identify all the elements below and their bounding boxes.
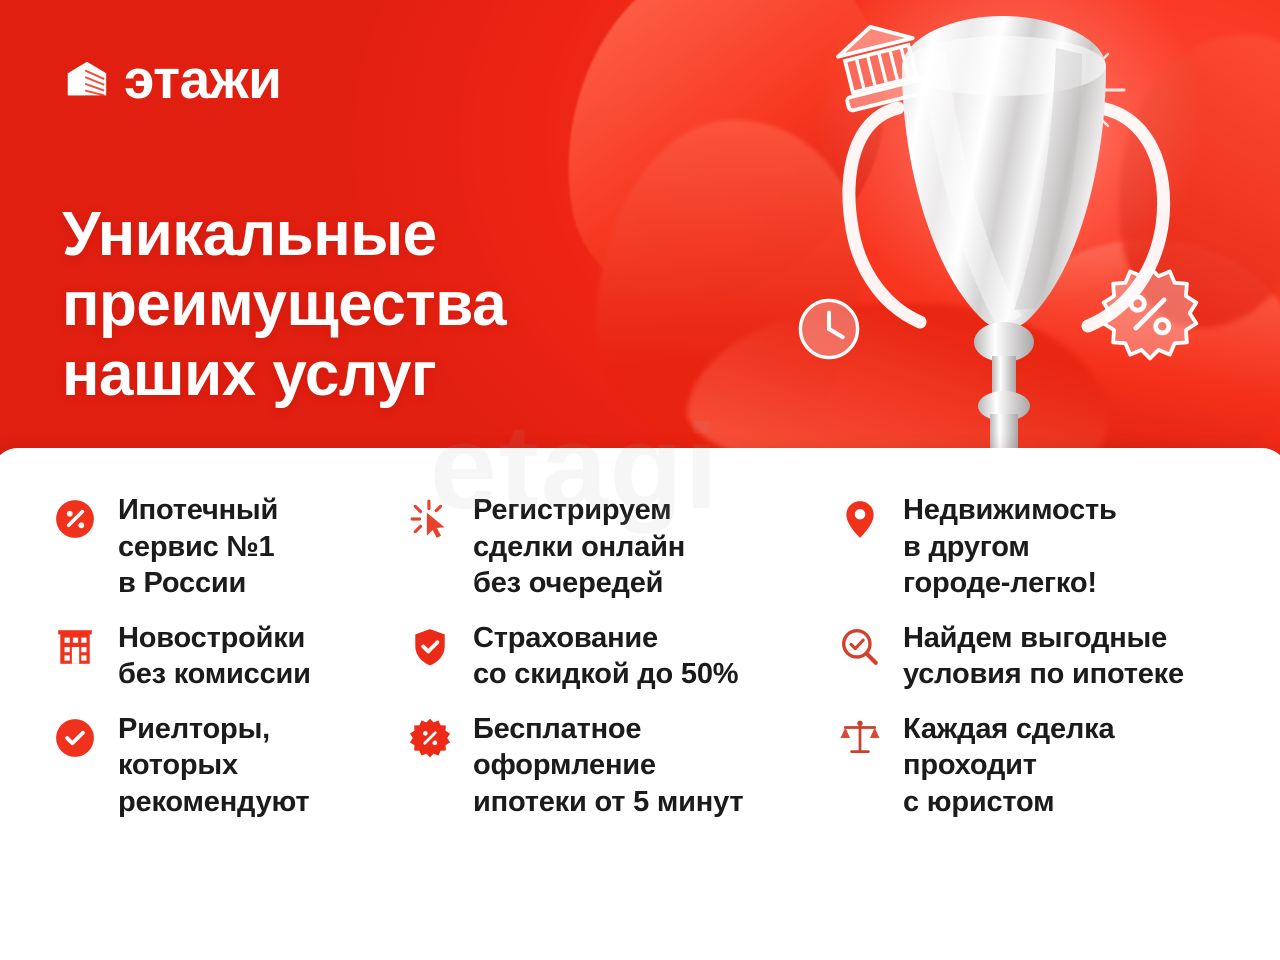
feature-item-new-buildings: Новостройки без комиссии	[54, 620, 409, 693]
hero-headline: Уникальные преимущества наших услуг	[62, 200, 506, 410]
headline-line-3: наших услуг	[62, 340, 506, 410]
feature-item-free-processing: Бесплатное оформление ипотеки от 5 минут	[409, 711, 839, 821]
brand-logo[interactable]: этажи	[64, 52, 281, 107]
clock-icon	[795, 295, 863, 363]
shield-check-icon	[409, 626, 451, 668]
feature-label: Регистрируем сделки онлайн без очередей	[473, 492, 685, 602]
headline-line-1: Уникальные	[62, 200, 506, 270]
percent-circle-icon	[54, 498, 96, 540]
bank-icon	[832, 18, 928, 114]
features-grid: Ипотечный сервис №1 в России	[0, 448, 1280, 820]
feature-item-best-conditions: Найдем выгодные условия по ипотеке	[839, 620, 1279, 693]
feature-label: Новостройки без комиссии	[118, 620, 311, 693]
headline-line-2: преимущества	[62, 270, 506, 340]
brand-name: этажи	[124, 52, 281, 107]
feature-item-other-city: Недвижимость в другом городе-легко!	[839, 492, 1279, 602]
feature-label: Недвижимость в другом городе-легко!	[903, 492, 1117, 602]
feature-label: Бесплатное оформление ипотеки от 5 минут	[473, 711, 743, 821]
check-circle-icon	[54, 717, 96, 759]
promo-banner: этажи Уникальные преимущества наших услу…	[0, 0, 1280, 960]
features-card: Ипотечный сервис №1 в России	[0, 448, 1280, 960]
feature-label: Страхование со скидкой до 50%	[473, 620, 738, 693]
feature-item-lawyer-deal: Каждая сделка проходит с юристом	[839, 711, 1279, 821]
percent-badge-icon	[1098, 262, 1202, 366]
click-cursor-icon	[409, 498, 451, 540]
feature-label: Найдем выгодные условия по ипотеке	[903, 620, 1184, 693]
map-pin-icon	[839, 498, 881, 540]
feature-label: Риелторы, которых рекомендуют	[118, 711, 309, 821]
apartment-building-icon	[54, 626, 96, 668]
feature-item-recommended-realtors: Риелторы, которых рекомендуют	[54, 711, 409, 821]
feature-label: Ипотечный сервис №1 в России	[118, 492, 278, 602]
feature-label: Каждая сделка проходит с юристом	[903, 711, 1114, 821]
feature-item-insurance: Страхование со скидкой до 50%	[409, 620, 839, 693]
percent-seal-icon	[409, 717, 451, 759]
feature-item-online-deals: Регистрируем сделки онлайн без очередей	[409, 492, 839, 602]
scales-justice-icon	[839, 717, 881, 759]
feature-item-mortgage-service: Ипотечный сервис №1 в России	[54, 492, 409, 602]
search-check-icon	[839, 626, 881, 668]
building-logo-icon	[64, 57, 110, 103]
